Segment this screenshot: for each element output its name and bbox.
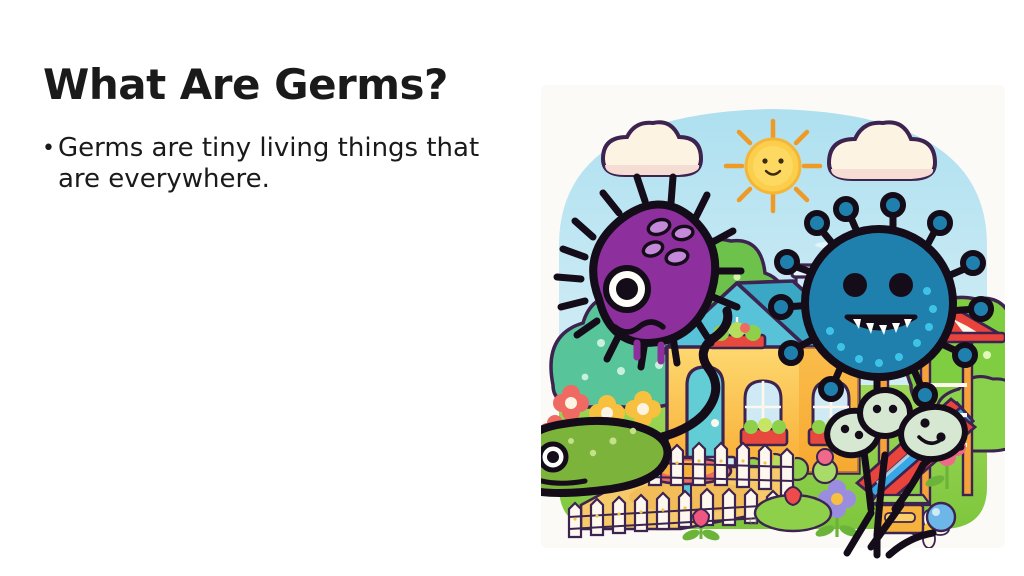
bullet-marker-icon: • bbox=[42, 133, 58, 164]
scene-svg: Ω bbox=[541, 85, 1005, 548]
svg-text:Ω: Ω bbox=[749, 515, 757, 528]
bullet-list: • Germs are tiny living things that are … bbox=[42, 133, 494, 195]
bullet-text: Germs are tiny living things that are ev… bbox=[58, 133, 494, 195]
bullet-item: • Germs are tiny living things that are … bbox=[42, 133, 494, 195]
page-title: What Are Germs? bbox=[43, 61, 513, 109]
germ-scene-illustration: Ω bbox=[541, 85, 1005, 548]
slide-canvas: What Are Germs? • Germs are tiny living … bbox=[0, 0, 1024, 576]
sun-icon bbox=[726, 121, 820, 211]
